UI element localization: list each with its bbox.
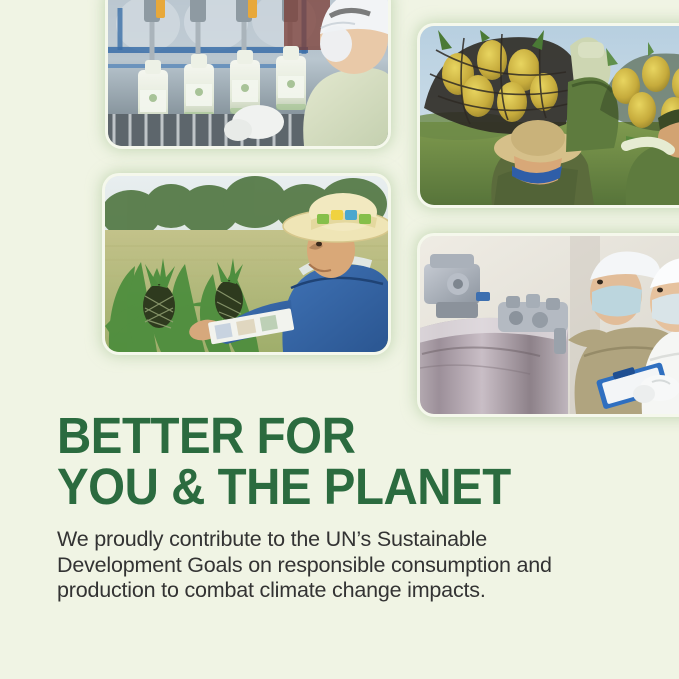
harvest-illustration bbox=[420, 26, 679, 205]
headline-line-1: BETTER FOR bbox=[57, 413, 578, 459]
photo-factory-line-frame bbox=[108, 0, 388, 146]
headline-line-2: YOU & THE PLANET bbox=[57, 464, 578, 510]
photo-harvest bbox=[420, 26, 679, 205]
brand-sustainability-banner: BETTER FOR YOU & THE PLANET We proudly c… bbox=[0, 0, 679, 679]
photo-tank bbox=[420, 236, 679, 414]
photo-tank-frame bbox=[420, 236, 679, 414]
tank-illustration bbox=[420, 236, 679, 414]
farmer-illustration bbox=[105, 176, 388, 352]
photo-farmer bbox=[105, 176, 388, 352]
photo-harvest-frame bbox=[420, 26, 679, 205]
photo-factory-line bbox=[108, 0, 388, 146]
paragraph-line-3: production to combat climate change impa… bbox=[57, 578, 617, 604]
paragraph-line-1: We proudly contribute to the UN’s Sustai… bbox=[57, 527, 617, 553]
photo-farmer-frame bbox=[105, 176, 388, 352]
paragraph-line-2: Development Goals on responsible consump… bbox=[57, 553, 617, 579]
sustainability-description: We proudly contribute to the UN’s Sustai… bbox=[57, 527, 617, 604]
factory-line-illustration bbox=[108, 0, 388, 146]
page-title: BETTER FOR YOU & THE PLANET bbox=[57, 413, 578, 510]
